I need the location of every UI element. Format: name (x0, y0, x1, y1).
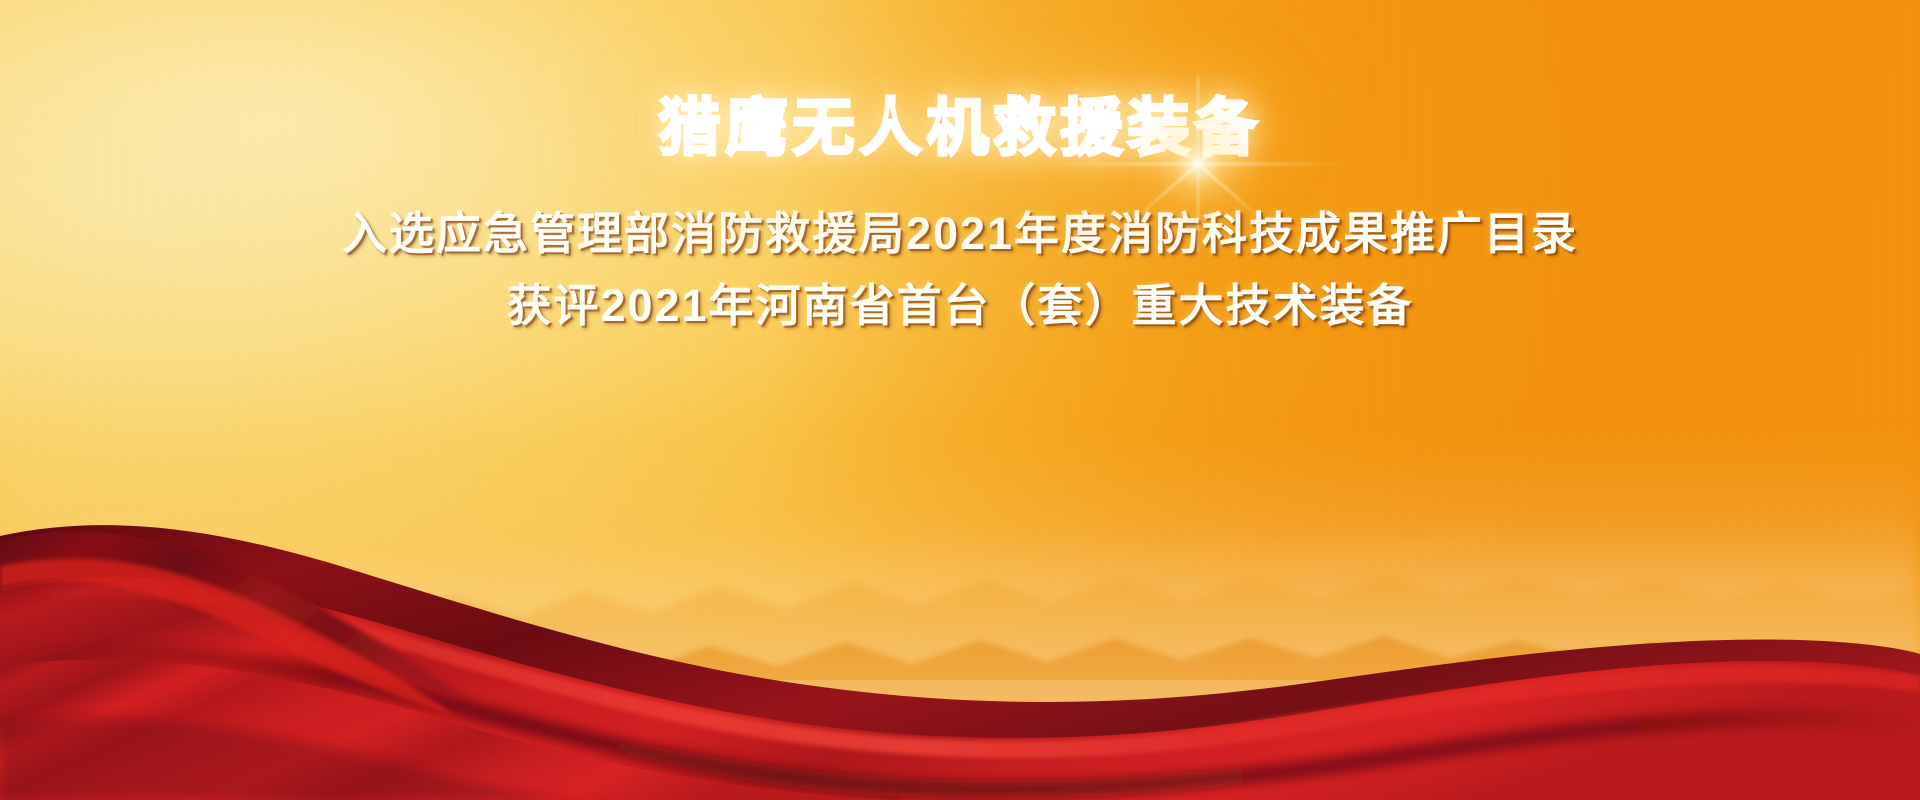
promo-banner: 猎鹰无人机救援装备 入选应急管理部消防救援局2021年度消防科技成果推广目录 获… (0, 0, 1920, 800)
subtitle-line-2: 获评2021年河南省首台（套）重大技术装备 (0, 277, 1920, 336)
headline-block: 猎鹰无人机救援装备 入选应急管理部消防救援局2021年度消防科技成果推广目录 获… (0, 96, 1920, 336)
subtitle-group: 入选应急管理部消防救援局2021年度消防科技成果推广目录 获评2021年河南省首… (0, 205, 1920, 336)
subtitle-line-1: 入选应急管理部消防救援局2021年度消防科技成果推广目录 (0, 205, 1920, 264)
page-title: 猎鹰无人机救援装备 (652, 96, 1267, 163)
red-silk-ribbon (0, 470, 1920, 800)
